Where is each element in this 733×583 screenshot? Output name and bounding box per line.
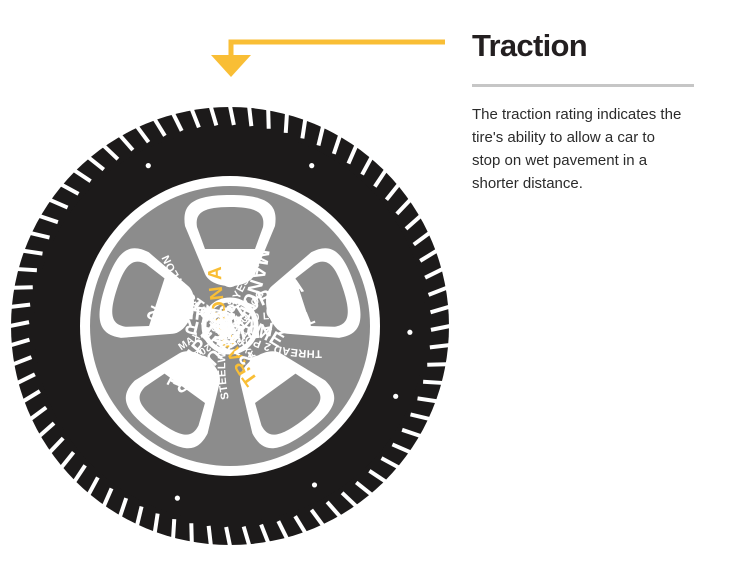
sidewall-separator-dot xyxy=(312,482,317,487)
sidewall-separator-dot xyxy=(309,163,314,168)
tire-illustration: TRACTION ATREADWEAR 022TEMPERATURE ATIRE… xyxy=(0,0,470,583)
elbow-arrow-down-icon xyxy=(200,24,460,86)
sidewall-separator-dot xyxy=(393,394,398,399)
arrow-head-triangle xyxy=(211,55,251,77)
sidewall-separator-dot xyxy=(146,163,151,168)
tread-notch xyxy=(286,114,287,133)
callout-arrow xyxy=(200,24,460,86)
tread-notch xyxy=(13,287,32,288)
tread-notch xyxy=(249,107,251,126)
page-title: Traction xyxy=(472,28,697,64)
sidewall-separator-dot xyxy=(407,330,412,335)
tread-notch xyxy=(23,251,42,254)
arrow-leader-line xyxy=(231,42,445,58)
tread-notch xyxy=(430,345,449,347)
tread-notch xyxy=(18,269,37,270)
panel-divider xyxy=(472,84,694,87)
tread-notch xyxy=(191,523,192,542)
tire-diagram-svg: TRACTION ATREADWEAR 022TEMPERATURE ATIRE… xyxy=(0,0,470,583)
tread-notch xyxy=(302,119,305,138)
tread-notch xyxy=(418,398,437,401)
tread-notch xyxy=(268,109,269,128)
tread-notch xyxy=(173,519,174,538)
tread-notch xyxy=(209,526,211,545)
spoke-inner-cutout xyxy=(197,207,264,249)
tread-notch xyxy=(155,514,158,533)
tread-notch xyxy=(423,382,442,383)
panel-description: The traction rating indicates the tire's… xyxy=(472,103,687,195)
tread-notch xyxy=(427,364,446,365)
tread-notch xyxy=(11,305,30,307)
tire-sidewall-infographic: TRACTION ATREADWEAR 022TEMPERATURE ATIRE… xyxy=(0,0,733,583)
sidewall-separator-dot xyxy=(175,496,180,501)
info-panel: Traction The traction rating indicates t… xyxy=(472,28,697,210)
